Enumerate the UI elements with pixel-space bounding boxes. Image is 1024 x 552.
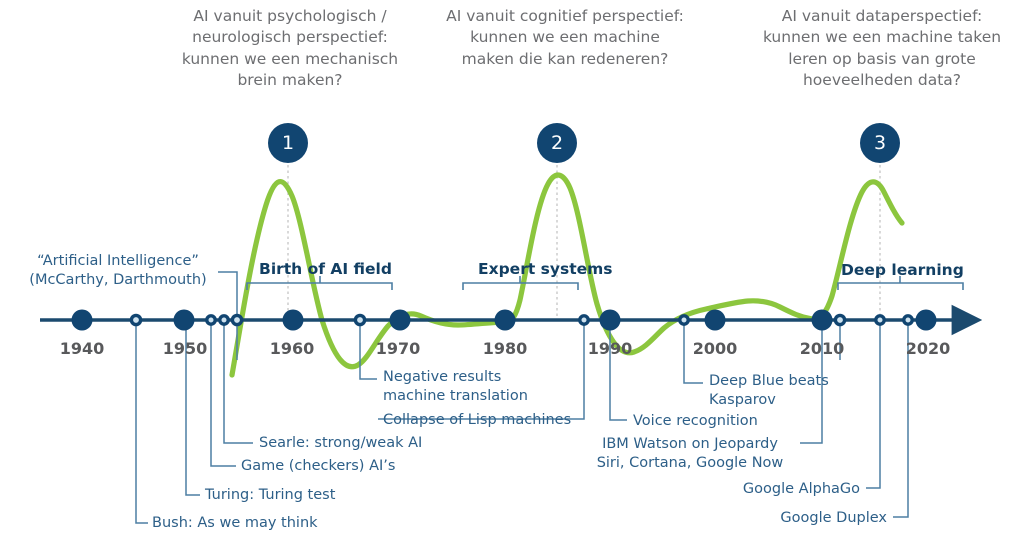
note-alphago: Google AlphaGo: [666, 480, 860, 499]
year-label-2000: 2000: [680, 339, 750, 358]
note-watson-siri: IBM Watson on Jeopardy Siri, Cortana, Go…: [585, 435, 795, 473]
event-dot-2020: [916, 310, 937, 331]
year-label-1960: 1960: [257, 339, 327, 358]
heading-cognitive-perspective: AI vanuit cognitief perspectief: kunnen …: [444, 6, 686, 70]
timeline-infographic: AI vanuit psychologisch / neurologisch p…: [0, 0, 1024, 552]
event-dot-1990: [600, 310, 621, 331]
event-dot-2010: [812, 310, 833, 331]
note-searle: Searle: strong/weak AI: [259, 434, 422, 453]
event-dot-watson: [835, 315, 844, 324]
heading-psychological-perspective: AI vanuit psychologisch / neurologisch p…: [164, 6, 416, 92]
phase-badge-3[interactable]: 3: [860, 123, 900, 163]
event-dot-game-checkers: [220, 316, 228, 324]
phase-badge-2[interactable]: 2: [537, 123, 577, 163]
note-game-checkers: Game (checkers) AI’s: [241, 457, 395, 476]
event-dot-duplex: [904, 316, 912, 324]
event-dot-1980: [495, 310, 516, 331]
note-duplex: Google Duplex: [693, 509, 887, 528]
event-dot-2000: [705, 310, 726, 331]
note-artificial-intelligence: “Artificial Intelligence” (McCarthy, Dar…: [18, 252, 218, 290]
note-lisp-collapse: Collapse of Lisp machines: [383, 411, 571, 430]
year-label-1990: 1990: [575, 339, 645, 358]
event-dot-1940: [72, 310, 93, 331]
year-label-1970: 1970: [363, 339, 433, 358]
note-bush: Bush: As we may think: [152, 514, 318, 533]
year-label-1940: 1940: [47, 339, 117, 358]
event-dot-1970: [390, 310, 411, 331]
year-label-1980: 1980: [470, 339, 540, 358]
phase-badge-1[interactable]: 1: [268, 123, 308, 163]
note-turing: Turing: Turing test: [205, 486, 335, 505]
year-label-2020: 2020: [893, 339, 963, 358]
event-dot-lisp-collapse: [580, 316, 588, 324]
event-dot-mccarthy: [232, 315, 241, 324]
note-negative-results: Negative results machine translation: [383, 368, 528, 406]
era-label-birth-of-ai: Birth of AI field: [259, 260, 392, 278]
era-label-expert-systems: Expert systems: [478, 260, 613, 278]
heading-data-perspective: AI vanuit dataperspectief: kunnen we een…: [752, 6, 1012, 92]
year-label-2010: 2010: [787, 339, 857, 358]
event-dot-alphago: [876, 316, 884, 324]
event-dot-1960: [283, 310, 304, 331]
era-label-deep-learning: Deep learning: [841, 261, 964, 279]
note-voice-recognition: Voice recognition: [633, 412, 758, 431]
year-label-1950: 1950: [150, 339, 220, 358]
event-dot-bush: [131, 315, 140, 324]
event-dot-turing-era: [207, 316, 215, 324]
event-dot-deep-blue: [680, 316, 688, 324]
event-dot-negative-results: [355, 315, 364, 324]
note-deep-blue: Deep Blue beats Kasparov: [709, 372, 829, 410]
event-dot-1950: [174, 310, 195, 331]
